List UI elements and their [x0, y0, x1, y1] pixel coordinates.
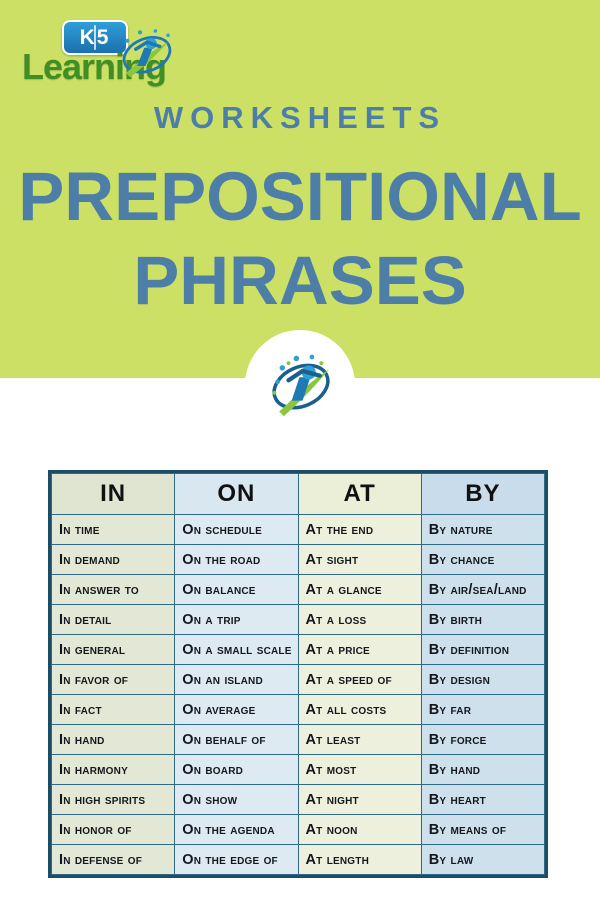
table-row: In factOn averageAt all costsBy far [52, 695, 545, 725]
table-cell: By nature [421, 515, 544, 545]
column-header-by: BY [421, 474, 544, 515]
table-cell: At a glance [298, 575, 421, 605]
table-cell: By means of [421, 815, 544, 845]
page-title: PREPOSITIONAL PHRASES [0, 155, 600, 323]
table-cell: At a loss [298, 605, 421, 635]
table-row: In timeOn scheduleAt the endBy nature [52, 515, 545, 545]
table-cell: By birth [421, 605, 544, 635]
table-row: In defense ofOn the edge ofAt lengthBy l… [52, 845, 545, 875]
table-header-row: IN ON AT BY [52, 474, 545, 515]
table-cell: On the road [175, 545, 298, 575]
table-cell: At length [298, 845, 421, 875]
table-cell: In favor of [52, 665, 175, 695]
table-cell: By far [421, 695, 544, 725]
table-cell: In time [52, 515, 175, 545]
table-cell: On a small scale [175, 635, 298, 665]
column-header-on: ON [175, 474, 298, 515]
table-row: In favor ofOn an islandAt a speed ofBy d… [52, 665, 545, 695]
table-row: In demandOn the roadAt sightBy chance [52, 545, 545, 575]
table-cell: By definition [421, 635, 544, 665]
table-cell: By law [421, 845, 544, 875]
table-cell: By hand [421, 755, 544, 785]
logo-badge-circle [245, 330, 355, 440]
table-cell: In harmony [52, 755, 175, 785]
table-cell: By force [421, 725, 544, 755]
table-cell: At a price [298, 635, 421, 665]
table-cell: By chance [421, 545, 544, 575]
title-line-1: PREPOSITIONAL [0, 155, 600, 239]
table-cell: On show [175, 785, 298, 815]
table-cell: On average [175, 695, 298, 725]
table-body: In timeOn scheduleAt the endBy natureIn … [52, 515, 545, 875]
table-cell: At noon [298, 815, 421, 845]
table-cell: By heart [421, 785, 544, 815]
table-cell: By design [421, 665, 544, 695]
table-cell: At sight [298, 545, 421, 575]
table-row: In honor ofOn the agendaAt noonBy means … [52, 815, 545, 845]
table-row: In generalOn a small scaleAt a priceBy d… [52, 635, 545, 665]
table-cell: At the end [298, 515, 421, 545]
table-cell: At most [298, 755, 421, 785]
kicker-heading: WORKSHEETS [0, 100, 600, 136]
table-cell: On board [175, 755, 298, 785]
table-cell: In high spirits [52, 785, 175, 815]
k5-swoosh-icon [110, 24, 184, 80]
table-cell: On balance [175, 575, 298, 605]
table-row: In harmonyOn boardAt mostBy hand [52, 755, 545, 785]
k5-learning-logo: K5 Learning [22, 18, 187, 88]
k5-swoosh-icon [262, 346, 340, 424]
table-cell: On schedule [175, 515, 298, 545]
table-cell: On the agenda [175, 815, 298, 845]
table-row: In answer toOn balanceAt a glanceBy air/… [52, 575, 545, 605]
table-cell: In general [52, 635, 175, 665]
table-cell: In fact [52, 695, 175, 725]
table-row: In handOn behalf ofAt leastBy force [52, 725, 545, 755]
column-header-in: IN [52, 474, 175, 515]
table-row: In detailOn a tripAt a lossBy birth [52, 605, 545, 635]
table-cell: In demand [52, 545, 175, 575]
table-cell: At a speed of [298, 665, 421, 695]
table-cell: On the edge of [175, 845, 298, 875]
table-row: In high spiritsOn showAt nightBy heart [52, 785, 545, 815]
table-cell: By air/sea/land [421, 575, 544, 605]
table-cell: At least [298, 725, 421, 755]
table-cell: On a trip [175, 605, 298, 635]
column-header-at: AT [298, 474, 421, 515]
table-cell: At night [298, 785, 421, 815]
table-cell: In hand [52, 725, 175, 755]
table-cell: In honor of [52, 815, 175, 845]
table-cell: In detail [52, 605, 175, 635]
table-cell: In defense of [52, 845, 175, 875]
table-cell: At all costs [298, 695, 421, 725]
table-cell: On an island [175, 665, 298, 695]
title-line-2: PHRASES [0, 239, 600, 323]
table-cell: In answer to [52, 575, 175, 605]
table-cell: On behalf of [175, 725, 298, 755]
prepositional-phrases-table: IN ON AT BY In timeOn scheduleAt the end… [48, 470, 548, 878]
